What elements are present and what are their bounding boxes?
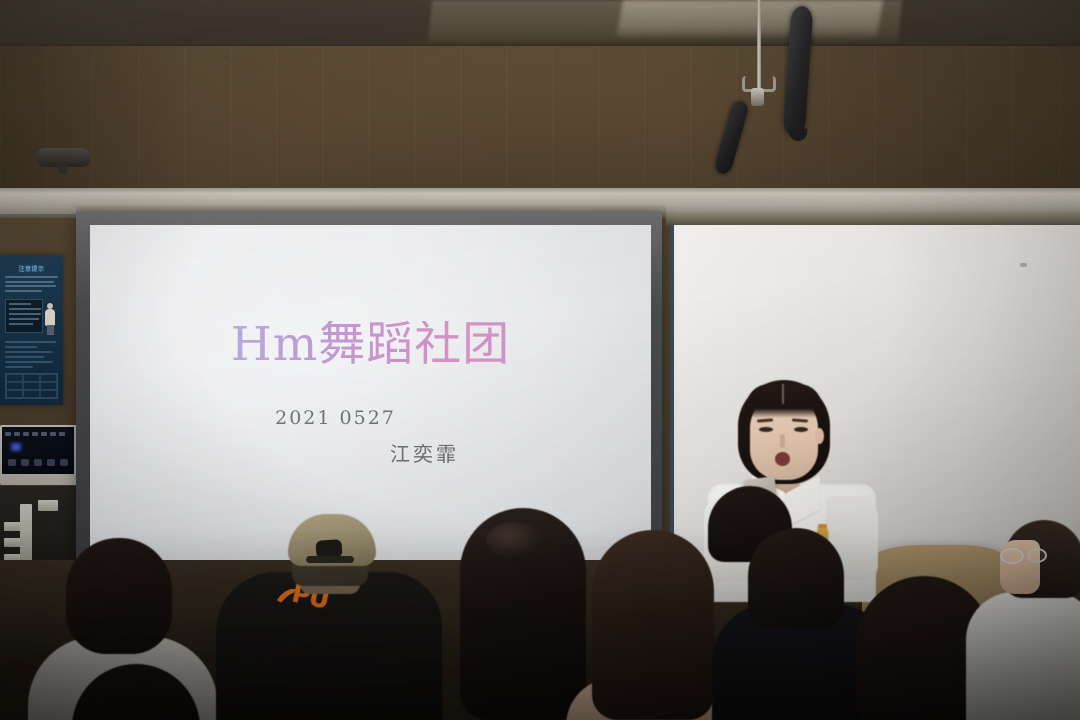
whiteboard-smudge — [222, 55, 228, 58]
slide-title: Hm舞蹈社团 — [90, 321, 651, 368]
microphone-mount-rod — [757, 0, 761, 88]
eyeglasses-icon — [1000, 548, 1024, 564]
audience-member-glasses-body — [966, 592, 1080, 720]
presenter-eye-left — [759, 427, 773, 432]
audience-member-left — [66, 538, 172, 654]
poster-body-text — [5, 276, 58, 294]
hair-highlight — [486, 522, 542, 558]
poster-person-illustration — [44, 303, 56, 335]
microphone-joint — [751, 88, 764, 106]
poster-grid-table — [5, 373, 58, 399]
presenter-hair-part — [782, 384, 784, 404]
audience-member-brown-hair — [592, 530, 714, 720]
eyeglasses-icon — [1027, 548, 1047, 563]
presenter-hair-front — [746, 384, 822, 418]
av-indicator-light — [10, 442, 22, 452]
poster-heading: 注意提示 — [4, 264, 59, 273]
slide-date: 2021 0527 — [90, 407, 616, 429]
presenter-nose — [780, 434, 785, 448]
av-control-panel[interactable] — [0, 425, 78, 485]
projection-screen-frame: Hm舞蹈社团 2021 0527 江奕霏 — [76, 212, 662, 577]
whiteboard-top-trim — [666, 212, 1080, 226]
projection-screen: Hm舞蹈社团 2021 0527 江奕霏 — [90, 225, 651, 563]
poster-secondary-text — [5, 341, 58, 371]
presenter-ear — [815, 428, 824, 444]
presenter-eye-right — [794, 427, 808, 432]
slide-author: 江奕霏 — [144, 438, 651, 467]
presenter-mouth — [775, 452, 790, 466]
av-touch-screen[interactable] — [2, 427, 74, 474]
wall-camera-mount — [58, 165, 67, 174]
classroom-presentation-photo: 注意提示 — [0, 0, 1080, 720]
audience-member-black-shirt — [748, 528, 844, 628]
poster-table — [5, 299, 43, 333]
av-button-row[interactable] — [8, 459, 70, 466]
safety-notice-poster: 注意提示 — [0, 255, 63, 405]
av-status-icons — [5, 430, 71, 437]
baseball-cap-strap — [306, 556, 354, 563]
ceiling-light-glare — [617, 0, 883, 36]
whiteboard-smudge — [1020, 263, 1027, 267]
